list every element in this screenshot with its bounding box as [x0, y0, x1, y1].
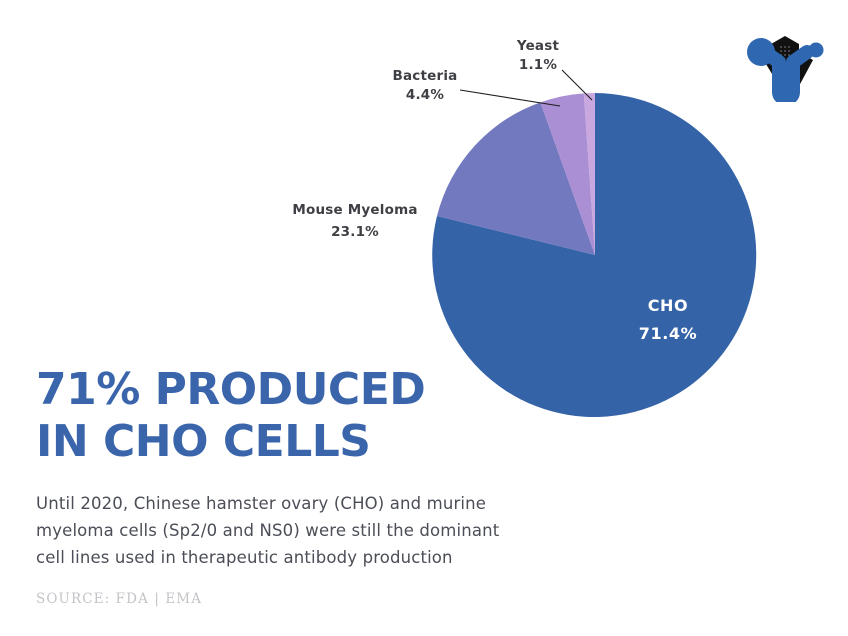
leader-line-bacteria — [460, 90, 560, 106]
pie-label-bacteria-value: 4.4% — [406, 87, 445, 103]
pie-label-yeast-name: Yeast — [516, 38, 560, 54]
pie-label-cho-name: CHO — [648, 296, 689, 315]
pie-label-mouse-myeloma-name: Mouse Myeloma — [292, 202, 417, 218]
pie-slice-yeast — [584, 93, 595, 255]
headline-line-2: IN CHO CELLS — [36, 416, 556, 468]
antibody-logo — [741, 26, 827, 102]
page-title: 71% PRODUCED IN CHO CELLS — [36, 364, 556, 468]
pie-label-mouse-myeloma-value: 23.1% — [331, 224, 379, 240]
source-credit: SOURCE: FDA | EMA — [36, 591, 556, 607]
pie-slice-mouse-myeloma — [437, 102, 595, 255]
body-paragraph: Until 2020, Chinese hamster ovary (CHO) … — [36, 490, 526, 571]
infographic-canvas: Yeast 1.1% Bacteria 4.4% Mouse Myeloma 2… — [0, 0, 848, 636]
pie-label-cho-value: 71.4% — [639, 324, 698, 343]
pie-label-bacteria-name: Bacteria — [392, 68, 457, 84]
pie-label-yeast-value: 1.1% — [519, 57, 558, 73]
text-block: 71% PRODUCED IN CHO CELLS Until 2020, Ch… — [36, 364, 556, 607]
leader-line-yeast — [562, 70, 592, 100]
headline-line-1: 71% PRODUCED — [36, 364, 556, 416]
pie-slice-bacteria — [540, 93, 595, 255]
